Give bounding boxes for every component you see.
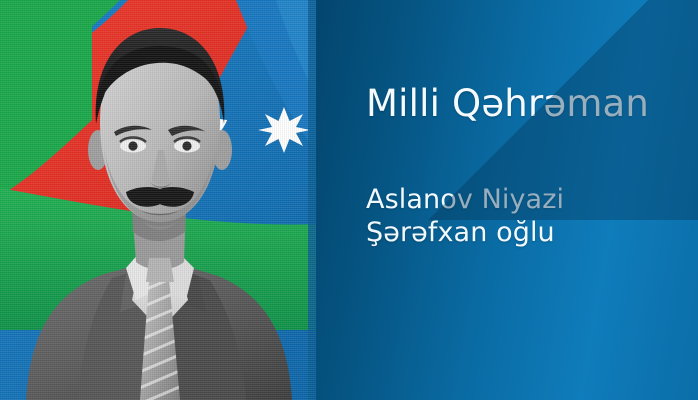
portrait-figure [0, 0, 316, 400]
hero-card: Milli Qəhrəman Aslanov Niyazi Şərəfxan o… [0, 0, 698, 400]
subject-name-line-1: Aslanov Niyazi [366, 183, 564, 216]
portrait-panel [0, 0, 316, 400]
portrait-photo-grayscale [0, 0, 316, 400]
subject-name: Aslanov Niyazi Şərəfxan oğlu [366, 183, 564, 249]
subject-name-line-2: Şərəfxan oğlu [366, 216, 564, 249]
page-title: Milli Qəhrəman [366, 84, 649, 124]
info-panel: Milli Qəhrəman Aslanov Niyazi Şərəfxan o… [316, 0, 698, 400]
